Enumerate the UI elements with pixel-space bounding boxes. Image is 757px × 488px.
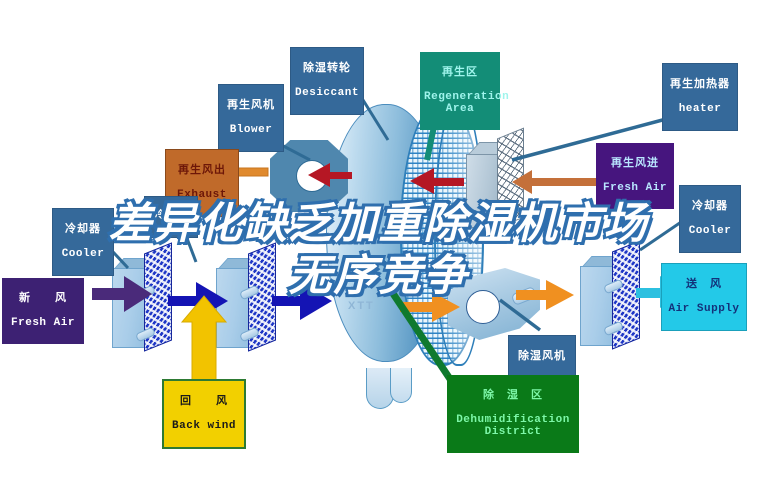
label-en: Dehumidification District xyxy=(451,414,575,439)
label-en: Regeneration Area xyxy=(424,91,496,116)
label-desiccant-wheel[interactable]: 除湿转轮 Desiccant xyxy=(290,47,364,115)
label-cn: 再生区 xyxy=(424,66,496,78)
label-en: Air Supply xyxy=(666,303,742,315)
label-cn: 除湿转轮 xyxy=(295,62,359,74)
label-cn: 除湿风机 xyxy=(513,350,571,362)
label-cn: 再生加热器 xyxy=(667,78,733,90)
label-en: Blower xyxy=(223,124,279,136)
label-en: Desiccant xyxy=(295,87,359,99)
overlay-headline: 差异化缺乏加重除湿机市场 无序竞争 xyxy=(0,198,757,302)
label-back-wind[interactable]: 回 风 Back wind xyxy=(162,379,246,449)
label-cn: 再生风出 xyxy=(170,164,234,176)
label-cn: 再生风机 xyxy=(223,99,279,111)
label-en: heater xyxy=(667,103,733,115)
label-regen-blower[interactable]: 再生风机 Blower xyxy=(218,84,284,152)
headline-line-1: 差异化缺乏加重除湿机市场 xyxy=(109,199,649,249)
diagram-canvas: XTT xyxy=(0,0,757,488)
label-cn: 回 风 xyxy=(168,395,240,407)
label-dehumidification-district[interactable]: 除 湿 区 Dehumidification District xyxy=(447,375,579,453)
label-en: Fresh Air xyxy=(6,317,80,329)
label-cn: 再生风进 xyxy=(600,157,670,169)
label-regen-heater[interactable]: 再生加热器 heater xyxy=(662,63,738,131)
label-cn: 除 湿 区 xyxy=(451,389,575,401)
headline-line-2: 无序竞争 xyxy=(0,250,757,302)
label-en: Back wind xyxy=(168,420,240,432)
label-regeneration-area[interactable]: 再生区 Regeneration Area xyxy=(420,52,500,130)
label-en: Fresh Air xyxy=(600,182,670,194)
